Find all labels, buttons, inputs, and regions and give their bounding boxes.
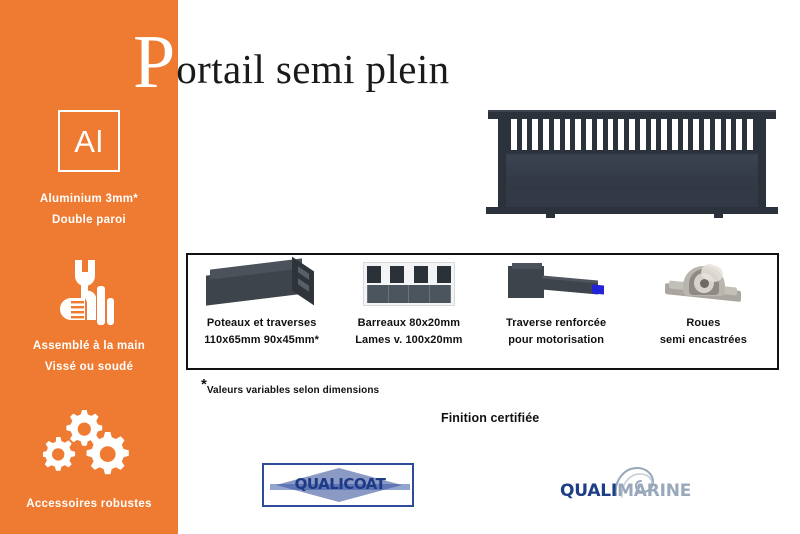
page-title: P ortail semi plein [133,20,450,86]
sidebar-item-accessories-line1: Accessoires robustes [0,494,178,515]
hand-holding-wrench-icon [0,256,178,326]
poster-page: Al Aluminium 3mm* Double paroi [0,0,800,534]
gate-bar [667,118,672,152]
sidebar-item-assembly-line2: Vissé ou soudé [0,357,178,378]
qualimarine-wordmark-part1: QUALI [560,481,617,501]
gate-foot [546,214,555,218]
qualimarine-logo: QUALIMARINE [560,468,710,508]
gate-bar [624,118,629,152]
gate-bar [688,118,693,152]
gate-solid-panel [504,150,760,210]
gate-bar [646,118,651,152]
gate-vertical-bars [506,118,758,152]
gate-bottom-rail [486,207,778,214]
feature-caption-line1: Barreaux 80x20mm [358,315,461,332]
aluminium-symbol-label: Al [74,126,104,157]
feature-caption-line2: 110x65mm 90x45mm* [204,332,319,349]
feature-caption-line2: semi encastrées [660,332,747,349]
semi-recessed-wheel-image [630,255,777,313]
gate-bar [742,118,747,152]
feature-caption-line1: Roues [686,315,720,332]
sidebar-item-assembly: Assemblé à la main Vissé ou soudé [0,256,178,378]
page-title-rest: ortail semi plein [176,49,449,90]
gate-foot [714,214,723,218]
feature-caption-line2: pour motorisation [508,332,604,349]
gate-bar [731,118,736,152]
gate-bar [549,118,554,152]
footnote: *Valeurs variables selon dimensions [201,380,379,398]
gate-bar [538,118,543,152]
gate-bar [570,118,575,152]
gate-right-post [758,112,766,211]
gate-bar [699,118,704,152]
footnote-text: Valeurs variables selon dimensions [207,385,379,396]
sidebar-item-assembly-line1: Assemblé à la main [0,336,178,357]
qualimarine-wordmark-part2: MARINE [617,481,691,501]
aluminium-profile-image [188,255,335,313]
features-box: Poteaux et traverses 110x65mm 90x45mm* [186,253,779,370]
feature-caption-line1: Traverse renforcée [506,315,606,332]
sidebar-item-aluminium: Al Aluminium 3mm* Double paroi [0,110,178,231]
feature-traverse-renforcee: Traverse renforcée pour motorisation [483,255,630,368]
gate-panel-seam [504,187,760,188]
sidebar-item-accessories: Accessoires robustes [0,406,178,515]
feature-caption-line2: Lames v. 100x20mm [355,332,462,349]
feature-barreaux: Barreaux 80x20mm Lames v. 100x20mm [335,255,482,368]
gate-panel-sheen [506,155,758,177]
feature-caption-line1: Poteaux et traverses [207,315,317,332]
aluminium-square-icon: Al [58,110,120,172]
sidebar-item-aluminium-line2: Double paroi [0,210,178,231]
bars-and-slats-image [335,255,482,313]
qualicoat-wordmark: QUALICOAT [264,475,416,493]
qualicoat-logo: QUALICOAT [262,463,414,507]
semi-solid-gate-illustration [482,104,782,226]
gate-bar [560,118,565,152]
gate-bar [592,118,597,152]
gate-bar [721,118,726,152]
gate-bar [506,118,511,152]
gate-bar [635,118,640,152]
feature-poteaux-et-traverses: Poteaux et traverses 110x65mm 90x45mm* [188,255,335,368]
gate-bar [678,118,683,152]
qualimarine-wordmark: QUALIMARINE [560,481,691,501]
feature-roues: Roues semi encastrées [630,255,777,368]
gate-bar [613,118,618,152]
gate-bar [710,118,715,152]
gate-bar [527,118,532,152]
gears-icon [0,406,178,480]
gate-bar [581,118,586,152]
sidebar-item-aluminium-line1: Aluminium 3mm* [0,189,178,210]
gate-bar [517,118,522,152]
finition-certifiee-label: Finition certifiée [441,411,539,425]
gate-bar [603,118,608,152]
gate-bar [656,118,661,152]
reinforced-crossbar-image [483,255,630,313]
page-title-initial: P [133,24,175,100]
gate-left-post [498,112,506,211]
